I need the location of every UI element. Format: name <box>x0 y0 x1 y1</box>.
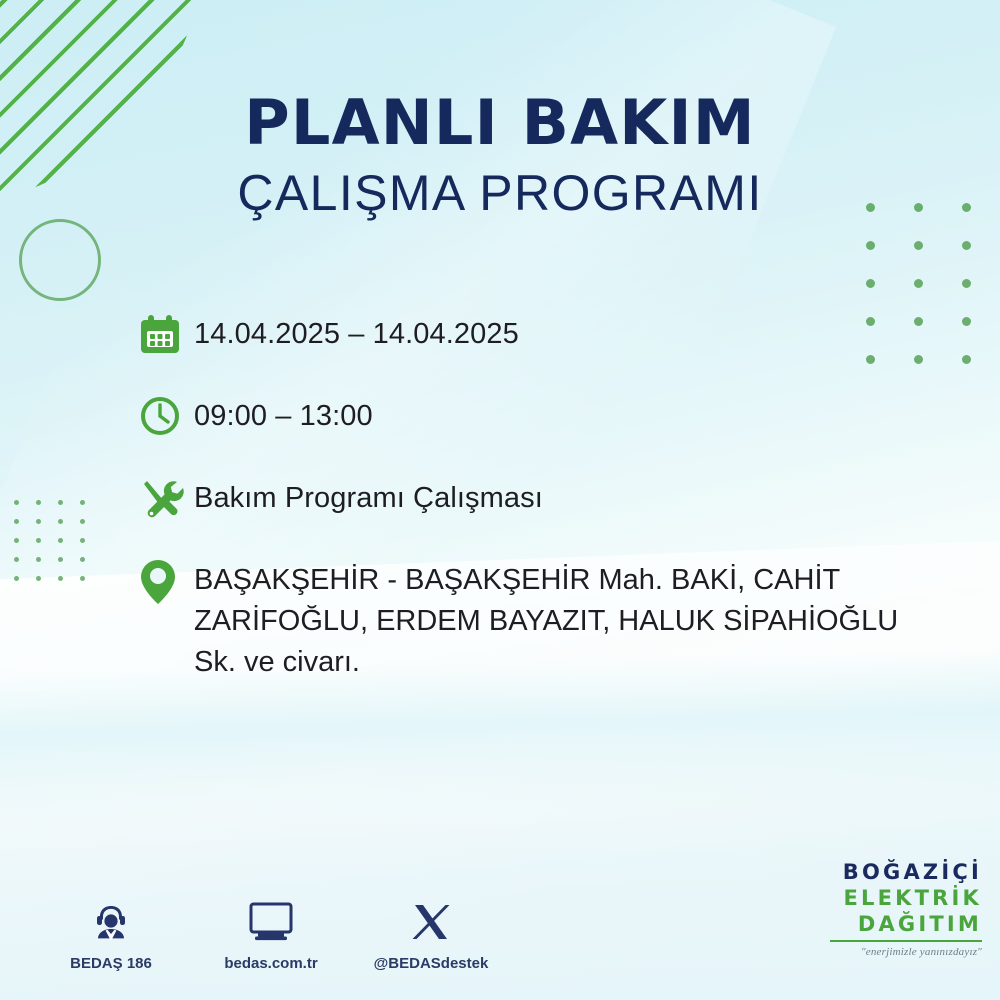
title-main: PLANLI BAKIM <box>0 92 1000 154</box>
dot <box>36 538 41 543</box>
contact-label-website: bedas.com.tr <box>224 955 317 972</box>
call-center-agent-icon <box>89 898 133 946</box>
dot <box>866 279 875 288</box>
bedas-logo: BOĞAZİÇİ ELEKTRİK DAĞITIM "enerjimizle y… <box>830 862 982 958</box>
detail-row-address: BAŞAKŞEHİR - BAŞAKŞEHİR Mah. BAKİ, CAHİT… <box>138 556 908 684</box>
brand-line-bogazici: BOĞAZİÇİ <box>830 862 982 883</box>
detail-row-date: 14.04.2025 – 14.04.2025 <box>138 310 908 370</box>
planned-maintenance-poster: PLANLI BAKIM ÇALIŞMA PROGRAMI <box>0 0 1000 1000</box>
dot <box>962 279 971 288</box>
title-subtitle: ÇALIŞMA PROGRAMI <box>0 168 1000 218</box>
detail-text-time: 09:00 – 13:00 <box>194 392 373 437</box>
circle-outline-decoration <box>19 219 101 301</box>
dot <box>80 538 85 543</box>
dot <box>80 500 85 505</box>
dot <box>914 317 923 326</box>
detail-row-work-type: Bakım Programı Çalışması <box>138 474 908 534</box>
calendar-icon <box>138 310 194 370</box>
dot <box>80 576 85 581</box>
detail-text-date: 14.04.2025 – 14.04.2025 <box>194 310 519 355</box>
brand-line-elektrik: ELEKTRİK <box>830 888 982 909</box>
clock-icon <box>138 392 194 452</box>
dot <box>58 519 63 524</box>
dot <box>80 557 85 562</box>
dot <box>866 241 875 250</box>
dot <box>914 279 923 288</box>
dot-grid-left-decoration <box>14 500 102 595</box>
location-pin-icon <box>138 556 194 616</box>
contact-label-x: @BEDASdestek <box>374 955 489 972</box>
monitor-icon <box>248 898 294 946</box>
dot <box>36 557 41 562</box>
dot <box>14 538 19 543</box>
contact-phone[interactable]: BEDAŞ 186 <box>52 898 170 972</box>
dot <box>962 241 971 250</box>
dot <box>14 500 19 505</box>
dot <box>962 317 971 326</box>
tools-icon <box>138 474 194 534</box>
page-title: PLANLI BAKIM ÇALIŞMA PROGRAMI <box>0 92 1000 218</box>
dot <box>962 355 971 364</box>
dot <box>58 557 63 562</box>
dot <box>14 576 19 581</box>
brand-line-dagitim: DAĞITIM <box>830 914 982 935</box>
dot <box>58 538 63 543</box>
footer: BEDAŞ 186 bedas.com.tr <box>0 868 1000 978</box>
contact-website[interactable]: bedas.com.tr <box>212 898 330 972</box>
x-twitter-icon <box>411 898 451 946</box>
dot <box>58 500 63 505</box>
contact-x-account[interactable]: @BEDASdestek <box>372 898 490 972</box>
detail-text-work-type: Bakım Programı Çalışması <box>194 474 543 519</box>
contact-label-phone: BEDAŞ 186 <box>70 955 152 972</box>
detail-row-time: 09:00 – 13:00 <box>138 392 908 452</box>
dot <box>36 576 41 581</box>
dot <box>80 519 85 524</box>
brand-tagline: "enerjimizle yanınızdayız" <box>830 947 982 958</box>
dot <box>914 241 923 250</box>
brand-divider <box>830 940 982 942</box>
dot <box>14 557 19 562</box>
dot <box>36 500 41 505</box>
dot <box>36 519 41 524</box>
dot <box>914 355 923 364</box>
dot <box>58 576 63 581</box>
maintenance-details-list: 14.04.2025 – 14.04.2025 09:00 – 13:00 <box>138 310 908 706</box>
dot <box>14 519 19 524</box>
contact-channels: BEDAŞ 186 bedas.com.tr <box>52 898 490 972</box>
detail-text-address: BAŞAKŞEHİR - BAŞAKŞEHİR Mah. BAKİ, CAHİT… <box>194 556 908 684</box>
